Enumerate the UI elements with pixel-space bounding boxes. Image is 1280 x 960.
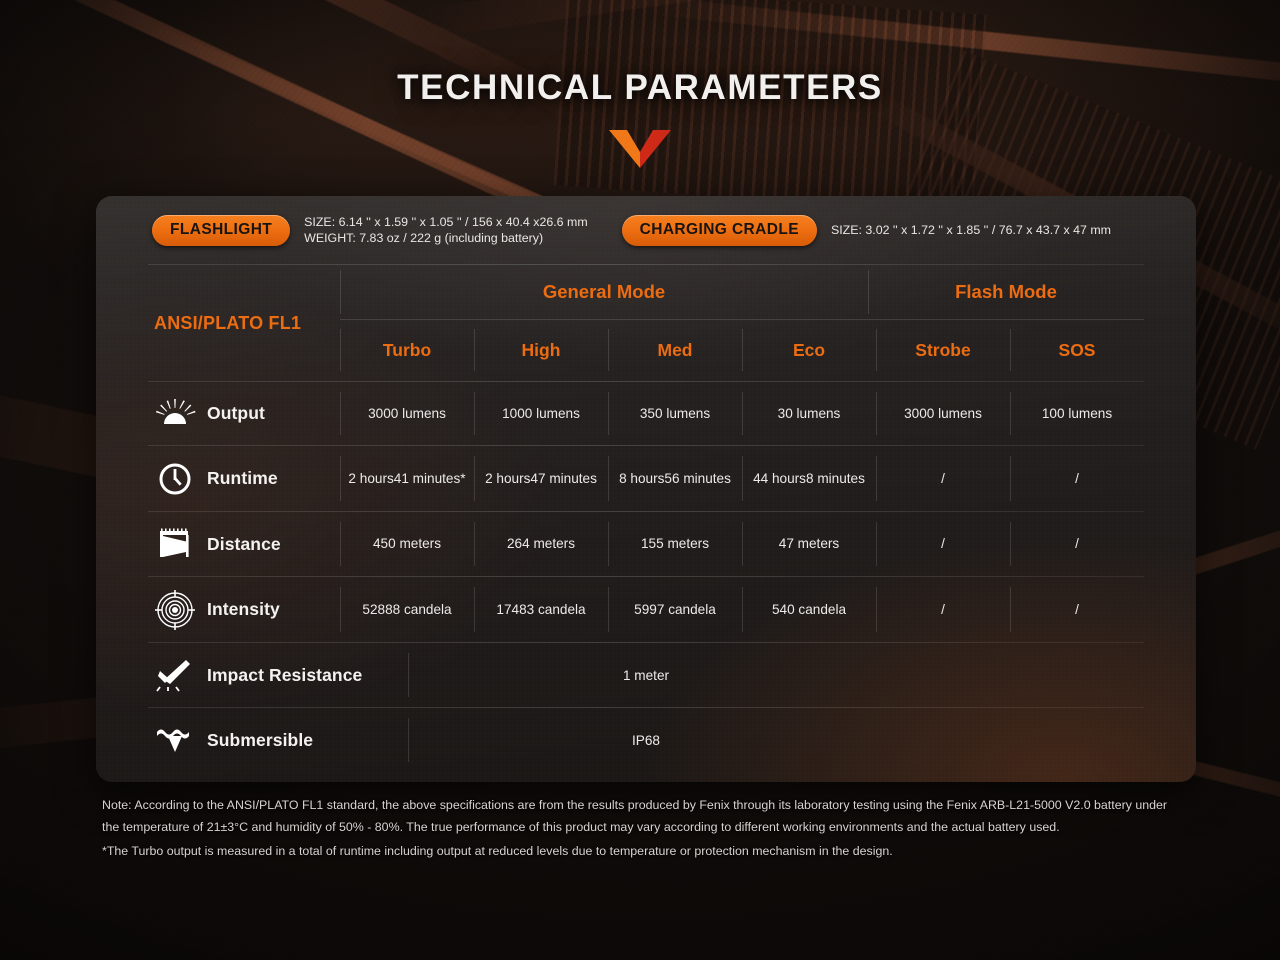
- cell-output-sos: 100 lumens: [1010, 382, 1144, 445]
- cell-distance-high: 264 meters: [474, 512, 608, 576]
- flashlight-size: SIZE: 6.14 '' x 1.59 '' x 1.05 '' / 156 …: [304, 214, 588, 230]
- column-header-spacer: [148, 319, 340, 381]
- column-header-strobe: Strobe: [876, 319, 1010, 381]
- chevron-down-icon: [609, 130, 671, 168]
- column-header-high: High: [474, 319, 608, 381]
- cell-distance-eco: 47 meters: [742, 512, 876, 576]
- row-label-text: Impact Resistance: [207, 665, 362, 686]
- cell-runtime-sos: /: [1010, 446, 1144, 511]
- row-label-distance: Distance: [148, 512, 340, 576]
- cell-runtime-eco: 44 hours8 minutes: [742, 446, 876, 511]
- charging-cradle-badge[interactable]: CHARGING CRADLE: [622, 215, 817, 246]
- cell-runtime-med: 8 hours56 minutes: [608, 446, 742, 511]
- row-label-text: Intensity: [207, 599, 280, 620]
- footnote-line-1: Note: According to the ANSI/PLATO FL1 st…: [102, 794, 1187, 838]
- flashlight-weight: WEIGHT: 7.83 oz / 222 g (including batte…: [304, 230, 588, 246]
- group-header-flash-mode: Flash Mode: [868, 265, 1144, 319]
- cell-output-strobe: 3000 lumens: [876, 382, 1010, 445]
- cell-intensity-eco: 540 candela: [742, 577, 876, 642]
- charging-cradle-size: SIZE: 3.02 '' x 1.72 '' x 1.85 '' / 76.7…: [831, 222, 1111, 238]
- specifications-table: ANSI/PLATO FL1 General Mode Flash Mode T…: [148, 264, 1144, 772]
- row-label-intensity: Intensity: [148, 577, 340, 642]
- cell-output-high: 1000 lumens: [474, 382, 608, 445]
- table-row: Output 3000 lumens 1000 lumens 350 lumen…: [148, 382, 1144, 445]
- footnote-line-2: *The Turbo output is measured in a total…: [102, 840, 1187, 862]
- cell-output-med: 350 lumens: [608, 382, 742, 445]
- flashlight-specs: SIZE: 6.14 '' x 1.59 '' x 1.05 '' / 156 …: [304, 214, 588, 246]
- cell-intensity-sos: /: [1010, 577, 1144, 642]
- column-header-eco: Eco: [742, 319, 876, 381]
- cell-output-eco: 30 lumens: [742, 382, 876, 445]
- column-header-row: Turbo High Med Eco Strobe SOS: [148, 319, 1144, 381]
- cell-submersible-value: IP68: [408, 708, 1144, 772]
- beam-ruler-icon: [154, 528, 196, 560]
- column-header-turbo: Turbo: [340, 319, 474, 381]
- sunburst-icon: [154, 399, 196, 429]
- row-label-text: Output: [207, 403, 265, 424]
- cell-runtime-strobe: /: [876, 446, 1010, 511]
- cell-intensity-turbo: 52888 candela: [340, 577, 474, 642]
- clock-icon: [154, 462, 196, 496]
- impact-icon: [154, 658, 196, 692]
- cell-runtime-turbo: 2 hours41 minutes*: [340, 446, 474, 511]
- footnote: Note: According to the ANSI/PLATO FL1 st…: [102, 794, 1187, 862]
- water-drop-icon: [154, 725, 196, 755]
- spec-panel: FLASHLIGHT SIZE: 6.14 '' x 1.59 '' x 1.0…: [96, 196, 1196, 782]
- title-block: TECHNICAL PARAMETERS: [0, 68, 1280, 168]
- row-label-text: Distance: [207, 534, 281, 555]
- flashlight-badge[interactable]: FLASHLIGHT: [152, 215, 290, 246]
- row-label-runtime: Runtime: [148, 446, 340, 511]
- group-header-spacer: [148, 265, 340, 319]
- row-label-output: Output: [148, 382, 340, 445]
- cell-runtime-high: 2 hours47 minutes: [474, 446, 608, 511]
- cell-distance-med: 155 meters: [608, 512, 742, 576]
- table-row: Intensity 52888 candela 17483 candela 59…: [148, 577, 1144, 642]
- row-label-text: Runtime: [207, 468, 278, 489]
- cell-distance-strobe: /: [876, 512, 1010, 576]
- charging-cradle-group: CHARGING CRADLE SIZE: 3.02 '' x 1.72 '' …: [622, 215, 1111, 246]
- column-header-med: Med: [608, 319, 742, 381]
- cell-impact-resistance-value: 1 meter: [408, 643, 1144, 707]
- cell-distance-turbo: 450 meters: [340, 512, 474, 576]
- dimensions-row: FLASHLIGHT SIZE: 6.14 '' x 1.59 '' x 1.0…: [96, 196, 1196, 264]
- row-label-submersible: Submersible: [148, 708, 408, 772]
- cell-intensity-high: 17483 candela: [474, 577, 608, 642]
- cell-distance-sos: /: [1010, 512, 1144, 576]
- table-row: Distance 450 meters 264 meters 155 meter…: [148, 512, 1144, 576]
- row-label-impact-resistance: Impact Resistance: [148, 643, 408, 707]
- cell-intensity-strobe: /: [876, 577, 1010, 642]
- target-icon: [154, 590, 196, 630]
- cell-output-turbo: 3000 lumens: [340, 382, 474, 445]
- table-row: Impact Resistance 1 meter: [148, 643, 1144, 707]
- group-header-general-mode: General Mode: [340, 265, 868, 319]
- row-label-text: Submersible: [207, 730, 313, 751]
- page-title: TECHNICAL PARAMETERS: [0, 68, 1280, 108]
- table-row: Submersible IP68: [148, 708, 1144, 772]
- group-header-row: General Mode Flash Mode: [148, 265, 1144, 319]
- cell-intensity-med: 5997 candela: [608, 577, 742, 642]
- column-header-sos: SOS: [1010, 319, 1144, 381]
- table-row: Runtime 2 hours41 minutes* 2 hours47 min…: [148, 446, 1144, 511]
